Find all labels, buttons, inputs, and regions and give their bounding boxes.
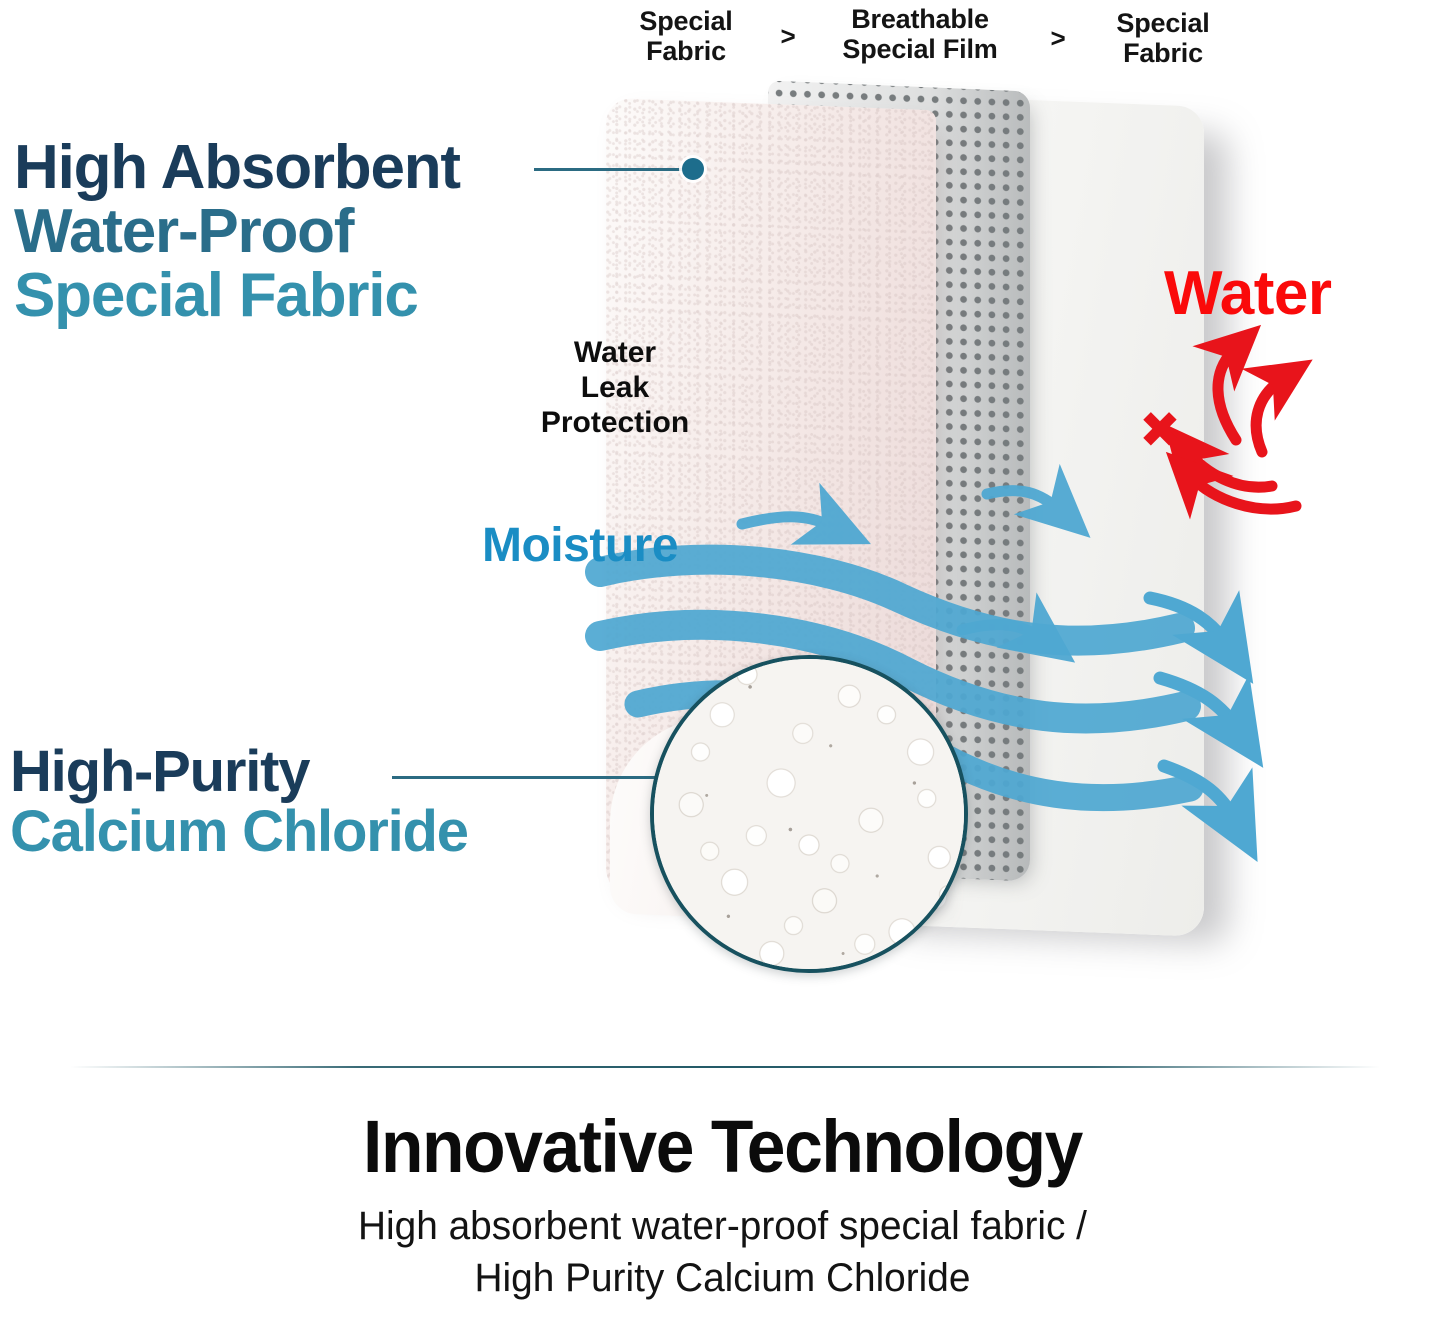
callout-absorbent-line2: Water-Proof <box>14 200 460 264</box>
blocked-x-icon: ✖ <box>1139 405 1181 455</box>
layer-separator-2-icon: > <box>1038 24 1078 53</box>
layer-label-middle-line2: Special Film <box>842 34 997 64</box>
callout-purity-line2: Calcium Chloride <box>10 802 468 862</box>
pellet-speckle-texture <box>654 659 964 969</box>
water-leak-line1: Water <box>574 336 656 369</box>
water-leak-line3: Protection <box>541 406 689 439</box>
layer-label-left: Special Fabric <box>606 6 766 66</box>
calcium-chloride-zoom-circle <box>650 655 968 973</box>
callout-high-absorbent: High Absorbent Water-Proof Special Fabri… <box>14 136 460 328</box>
layer-label-right-line1: Special <box>1116 8 1209 38</box>
layer-label-left-line1: Special <box>639 6 732 36</box>
callout-high-purity: High-Purity Calcium Chloride <box>10 742 468 861</box>
layer-label-left-line2: Fabric <box>646 36 726 66</box>
layer-label-row: Special Fabric > Breathable Special Film… <box>600 0 1280 86</box>
infographic-canvas: Special Fabric > Breathable Special Film… <box>0 0 1445 1333</box>
section-divider <box>70 1066 1380 1068</box>
bottom-subtitle-line2: High Purity Calcium Chloride <box>475 1256 971 1300</box>
annotation-moisture: Moisture <box>482 518 678 573</box>
bottom-section: Innovative Technology High absorbent wat… <box>0 1108 1445 1305</box>
annotation-water: Water <box>1164 258 1331 329</box>
annotation-water-leak-protection: Water Leak Protection <box>500 336 730 440</box>
layer-separator-1-icon: > <box>768 22 808 51</box>
callout-purity-line1: High-Purity <box>10 742 468 802</box>
leader-dot-absorbent <box>682 158 704 180</box>
leader-line-absorbent <box>534 168 688 171</box>
callout-absorbent-line1: High Absorbent <box>14 136 460 200</box>
bottom-subtitle: High absorbent water-proof special fabri… <box>22 1200 1424 1306</box>
water-leak-line2: Leak <box>581 371 649 404</box>
callout-absorbent-line3: Special Fabric <box>14 264 460 328</box>
layer-label-middle-line1: Breathable <box>851 4 989 34</box>
layer-label-middle: Breathable Special Film <box>805 4 1035 64</box>
layer-label-right-line2: Fabric <box>1123 38 1203 68</box>
bottom-title: Innovative Technology <box>43 1108 1401 1186</box>
layer-label-right: Special Fabric <box>1078 8 1248 68</box>
bottom-subtitle-line1: High absorbent water-proof special fabri… <box>358 1204 1087 1248</box>
